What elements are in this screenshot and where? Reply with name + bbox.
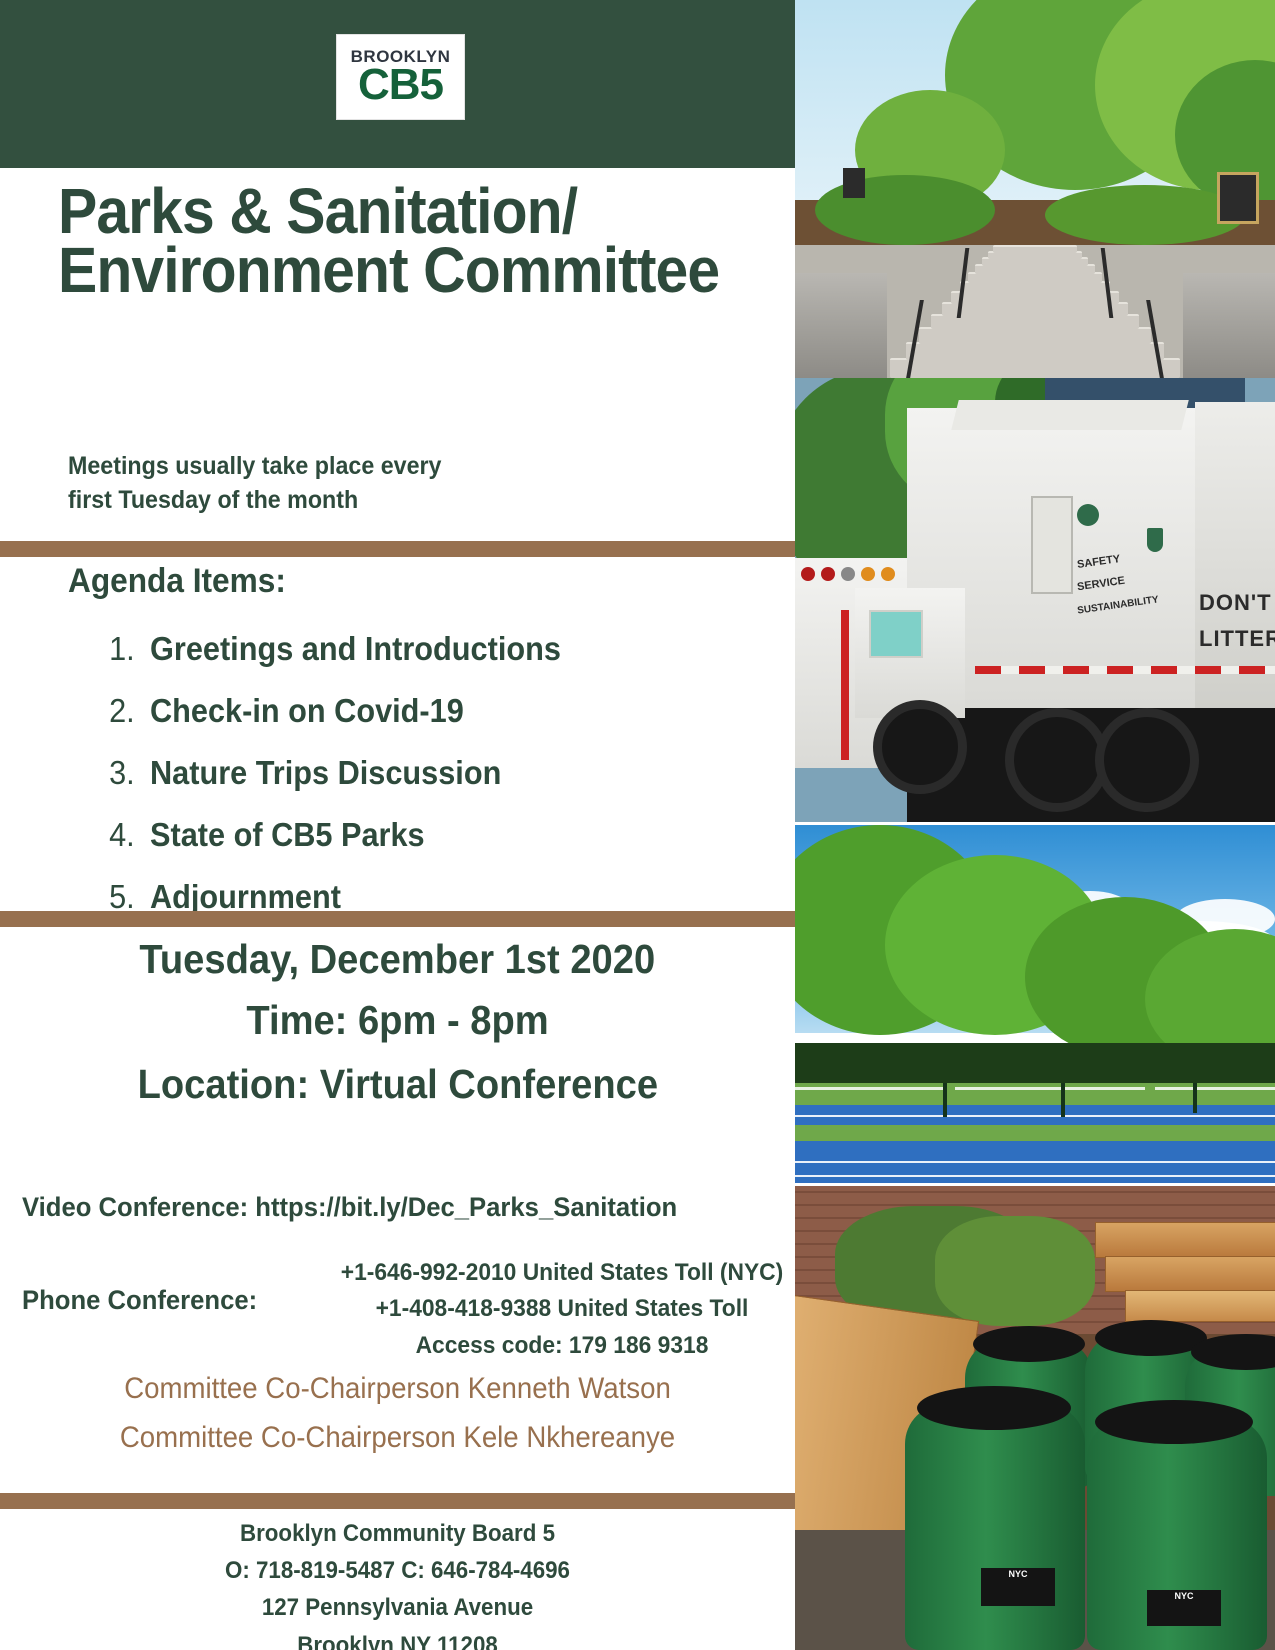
footer-org: Brooklyn Community Board 5	[28, 1515, 767, 1552]
agenda-item-label: Adjournment	[150, 878, 341, 915]
tennis-courts-photo	[795, 825, 1275, 1183]
co-chairperson-1: Committee Co-Chairperson Kenneth Watson	[32, 1372, 763, 1406]
phone-conference-numbers: +1-646-992-2010 United States Toll (NYC)…	[302, 1255, 822, 1364]
footer-phones: O: 718-819-5487 C: 646-784-4696	[28, 1552, 767, 1589]
truck-litter-text: LITTER	[1199, 626, 1275, 652]
footer-address: 127 Pennsylvania Avenue	[28, 1589, 767, 1626]
subtitle-line-1: Meetings usually take place every	[68, 450, 719, 484]
agenda-item-number: 3.	[109, 742, 135, 804]
park-stairway-photo	[795, 0, 1275, 378]
meeting-details: Tuesday, December 1st 2020 Time: 6pm - 8…	[0, 930, 795, 1117]
nyc-barrel-label: NYC	[981, 1568, 1055, 1606]
nyc-label-text: NYC	[1008, 1569, 1027, 1579]
meeting-location: Location: Virtual Conference	[137, 1053, 657, 1117]
truck-dont-text: DON'T	[1199, 590, 1272, 616]
divider-top	[0, 541, 795, 557]
agenda-item-number: 2.	[109, 680, 135, 742]
content-column: Parks & Sanitation/ Environment Committe…	[0, 0, 795, 1650]
sanitation-truck-photo: SAFETY SERVICE SUSTAINABILITY DON'T LITT…	[795, 378, 1275, 822]
agenda-item-label: Nature Trips Discussion	[150, 754, 501, 791]
subtitle-line-2: first Tuesday of the month	[68, 484, 719, 518]
phone-access-code: Access code: 179 186 9318	[315, 1328, 809, 1364]
flyer-page: SAFETY SERVICE SUSTAINABILITY DON'T LITT…	[0, 0, 1275, 1650]
footer-city: Brooklyn NY 11208	[28, 1627, 767, 1650]
meeting-time: Time: 6pm - 8pm	[246, 989, 548, 1053]
footer: Brooklyn Community Board 5O: 718-819-548…	[0, 1515, 795, 1650]
page-title: Parks & Sanitation/ Environment Committe…	[58, 182, 720, 300]
agenda-item: 1. Greetings and Introductions	[150, 618, 782, 680]
divider-middle	[0, 911, 795, 927]
agenda-item-number: 1.	[109, 618, 135, 680]
co-chairperson-2: Committee Co-Chairperson Kele Nkhereanye	[32, 1421, 763, 1455]
photo-column: SAFETY SERVICE SUSTAINABILITY DON'T LITT…	[795, 0, 1275, 1650]
agenda-item: 3. Nature Trips Discussion	[150, 742, 782, 804]
meeting-date: Tuesday, December 1st 2020	[140, 930, 656, 989]
agenda-item-label: Check-in on Covid-19	[150, 692, 464, 729]
phone-number-us: +1-408-418-9388 United States Toll	[315, 1291, 809, 1327]
divider-bottom	[0, 1493, 795, 1509]
agenda-item: 4. State of CB5 Parks	[150, 804, 782, 866]
video-conference-link[interactable]: Video Conference: https://bit.ly/Dec_Par…	[22, 1192, 763, 1223]
agenda-item-number: 4.	[109, 804, 135, 866]
agenda-item-label: State of CB5 Parks	[150, 816, 425, 853]
agenda-heading: Agenda Items:	[68, 562, 286, 601]
meeting-frequency-note: Meetings usually take place every first …	[68, 450, 719, 518]
agenda-item: 2. Check-in on Covid-19	[150, 680, 782, 742]
agenda-item-label: Greetings and Introductions	[150, 630, 561, 667]
agenda-list: 1. Greetings and Introductions 2. Check-…	[100, 618, 830, 928]
rain-barrels-photo: NYC NYC	[795, 1186, 1275, 1650]
phone-conference-label: Phone Conference:	[22, 1285, 257, 1316]
phone-number-nyc: +1-646-992-2010 United States Toll (NYC)	[315, 1255, 809, 1291]
